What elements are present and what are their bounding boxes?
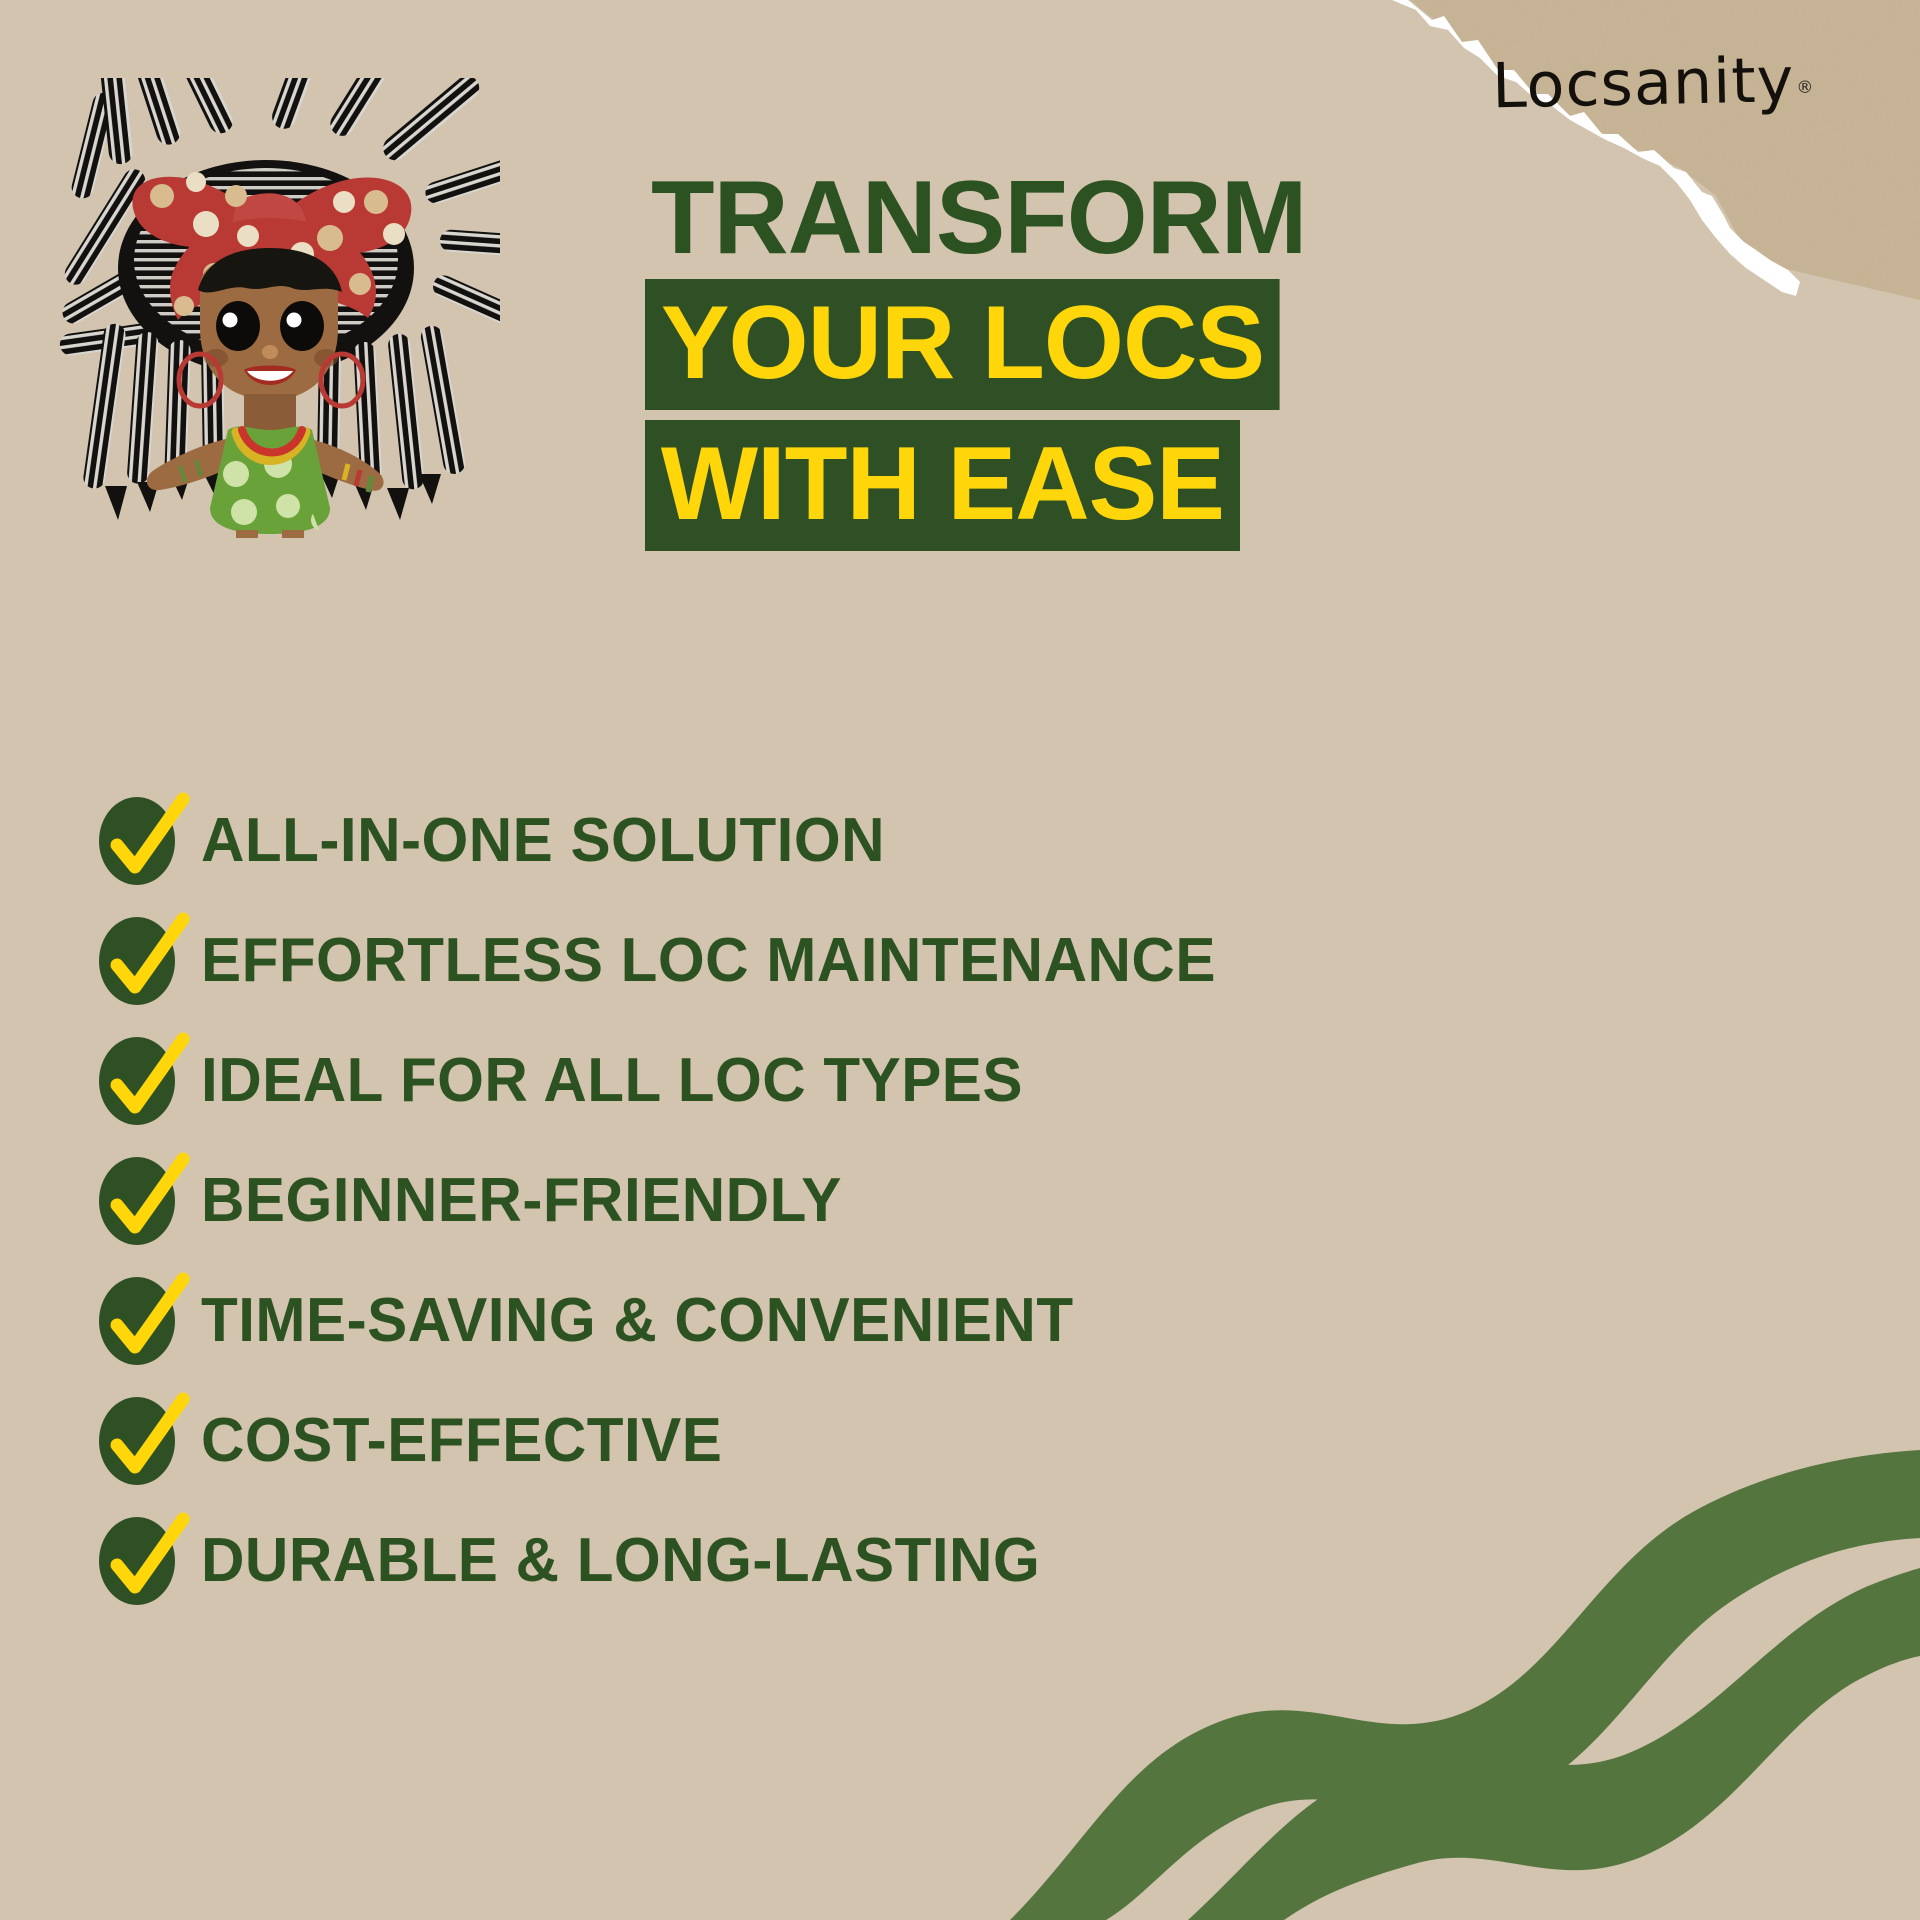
left-eye: [216, 301, 260, 351]
headline-line-1-row: TRANSFORM: [645, 168, 1825, 269]
list-item-label: DURABLE & LONG-LASTING: [201, 1525, 1040, 1596]
headline-line-2-row: YOUR LOCS: [645, 269, 1825, 410]
checkmark-icon: [95, 1157, 181, 1243]
checkmark-icon: [95, 1517, 181, 1603]
headline-line-3: WITH EASE: [645, 420, 1240, 551]
right-eye: [280, 301, 324, 351]
benefits-checklist: ALL-IN-ONE SOLUTION EFFORTLESS LOC MAINT…: [95, 780, 1795, 1620]
brand-name: Locsanity: [1491, 43, 1795, 122]
checkmark-icon: [95, 1037, 181, 1123]
list-item: COST-EFFECTIVE: [95, 1380, 1795, 1500]
headline-line-3-row: WITH EASE: [645, 410, 1825, 551]
list-item-label: ALL-IN-ONE SOLUTION: [201, 805, 885, 876]
list-item: DURABLE & LONG-LASTING: [95, 1500, 1795, 1620]
list-item-label: EFFORTLESS LOC MAINTENANCE: [201, 925, 1216, 996]
list-item-label: COST-EFFECTIVE: [201, 1405, 722, 1476]
list-item-label: TIME-SAVING & CONVENIENT: [201, 1285, 1074, 1356]
wave-band-lower: [1188, 1568, 1920, 1920]
list-item: TIME-SAVING & CONVENIENT: [95, 1260, 1795, 1380]
trademark-symbol: ®: [1796, 78, 1814, 98]
brand-logo: Locsanity®: [1491, 43, 1813, 123]
list-item: ALL-IN-ONE SOLUTION: [95, 780, 1795, 900]
headline-line-1: TRANSFORM: [645, 158, 1306, 284]
list-item: EFFORTLESS LOC MAINTENANCE: [95, 900, 1795, 1020]
list-item: IDEAL FOR ALL LOC TYPES: [95, 1020, 1795, 1140]
list-item: BEGINNER-FRIENDLY: [95, 1140, 1795, 1260]
character-illustration: [30, 78, 500, 538]
checkmark-icon: [95, 797, 181, 883]
checkmark-icon: [95, 1397, 181, 1483]
headline-block: TRANSFORM YOUR LOCS WITH EASE: [645, 168, 1825, 551]
poster-canvas: Locsanity®: [0, 0, 1920, 1920]
list-item-label: BEGINNER-FRIENDLY: [201, 1165, 842, 1236]
headline-line-2: YOUR LOCS: [645, 279, 1280, 410]
checkmark-icon: [95, 1277, 181, 1363]
checkmark-icon: [95, 917, 181, 1003]
list-item-label: IDEAL FOR ALL LOC TYPES: [201, 1045, 1023, 1116]
